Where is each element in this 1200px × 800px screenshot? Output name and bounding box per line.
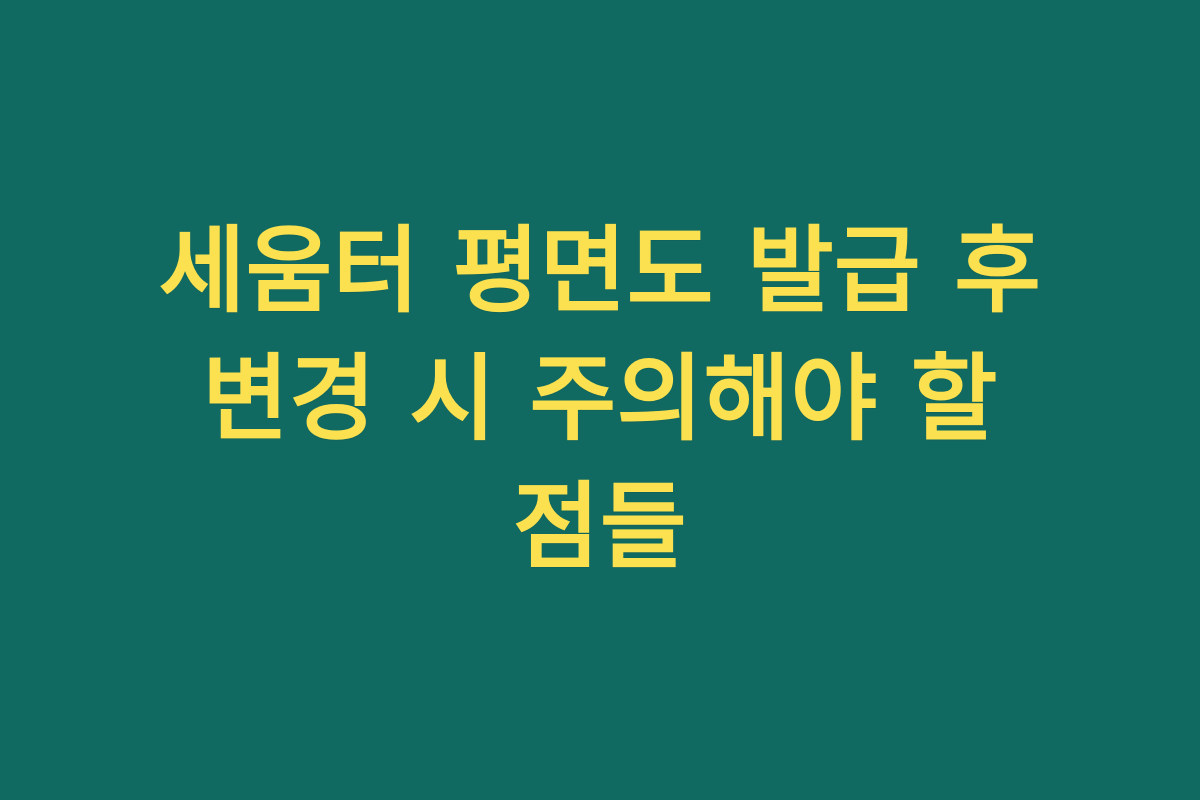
title-card: 세움터 평면도 발급 후 변경 시 주의해야 할 점들: [0, 0, 1200, 800]
page-title: 세움터 평면도 발급 후 변경 시 주의해야 할 점들: [125, 208, 1075, 592]
